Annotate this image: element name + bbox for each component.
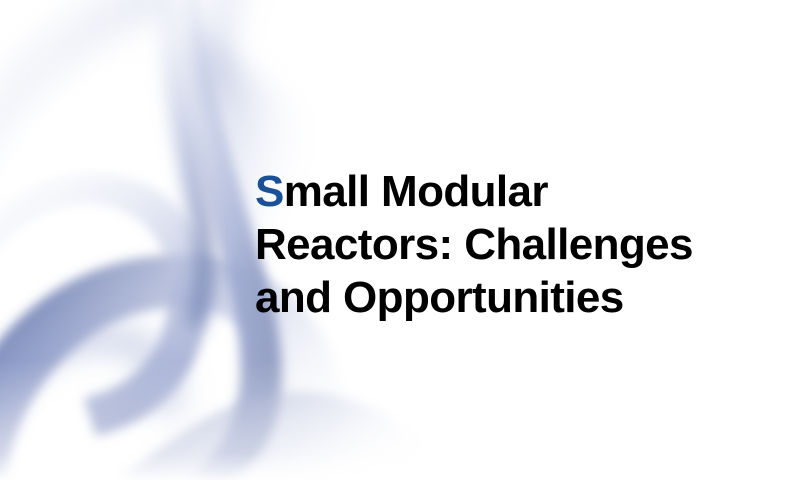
cover-page: Small Modular Reactors: Challenges and O…: [0, 0, 800, 480]
swirl-thin-ribbon: [152, 0, 214, 330]
page-title: Small Modular Reactors: Challenges and O…: [255, 165, 775, 324]
title-line-1-text: mall Modular: [284, 167, 548, 216]
swirl-upper-left-edge: [0, 0, 176, 226]
swirl-lower-arc: [120, 392, 436, 480]
title-initial-letter: S: [255, 167, 284, 216]
artwork-bottom-fade: [0, 360, 460, 480]
swirl-pale-inner: [0, 323, 186, 434]
title-line-3: and Opportunities: [255, 271, 775, 324]
title-line-1: Small Modular: [255, 165, 775, 218]
swirl-wedge-top: [150, 0, 250, 120]
title-line-2: Reactors: Challenges: [255, 218, 775, 271]
swirl-inner-loop: [0, 173, 208, 436]
